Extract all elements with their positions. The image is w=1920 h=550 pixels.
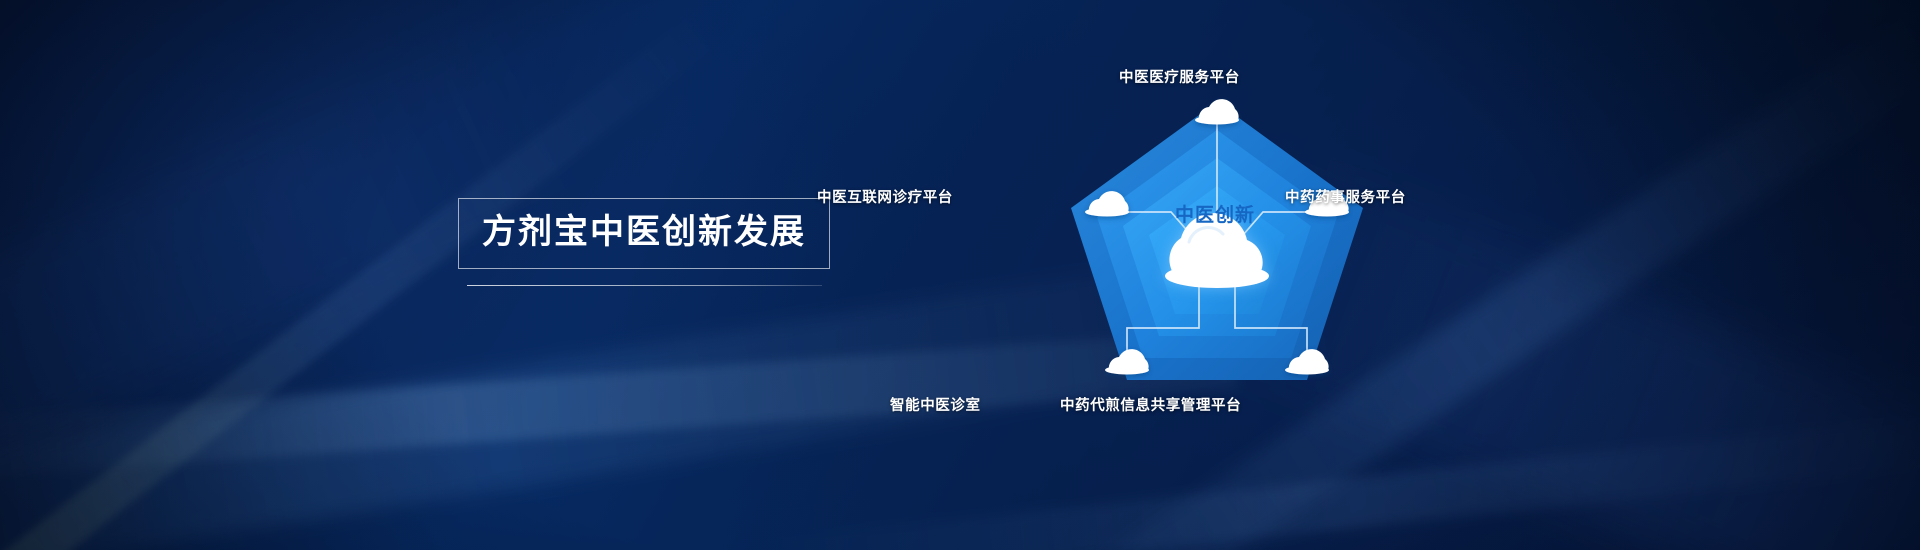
title-underline	[467, 285, 822, 286]
vignette-overlay	[0, 0, 1920, 550]
node-label-top: 中医医疗服务平台	[1119, 66, 1240, 87]
title-border-box: 方剂宝中医创新发展	[458, 198, 830, 269]
node-label-left: 中医互联网诊疗平台	[817, 186, 953, 207]
node-cloud-top	[1195, 99, 1239, 124]
banner-title-block: 方剂宝中医创新发展	[458, 198, 830, 286]
node-label-bottom-right: 中药代煎信息共享管理平台	[1060, 394, 1241, 415]
node-label-bottom-left: 智能中医诊室	[890, 394, 981, 415]
hero-banner: 方剂宝中医创新发展	[0, 0, 1920, 550]
pentagon-diagram: 中医创新 中医医疗服务平台 中药药事服务平台 中药代煎信息共享管理平台 智能中医…	[985, 60, 1455, 480]
node-label-right: 中药药事服务平台	[1285, 186, 1406, 207]
page-title: 方剂宝中医创新发展	[482, 213, 806, 252]
